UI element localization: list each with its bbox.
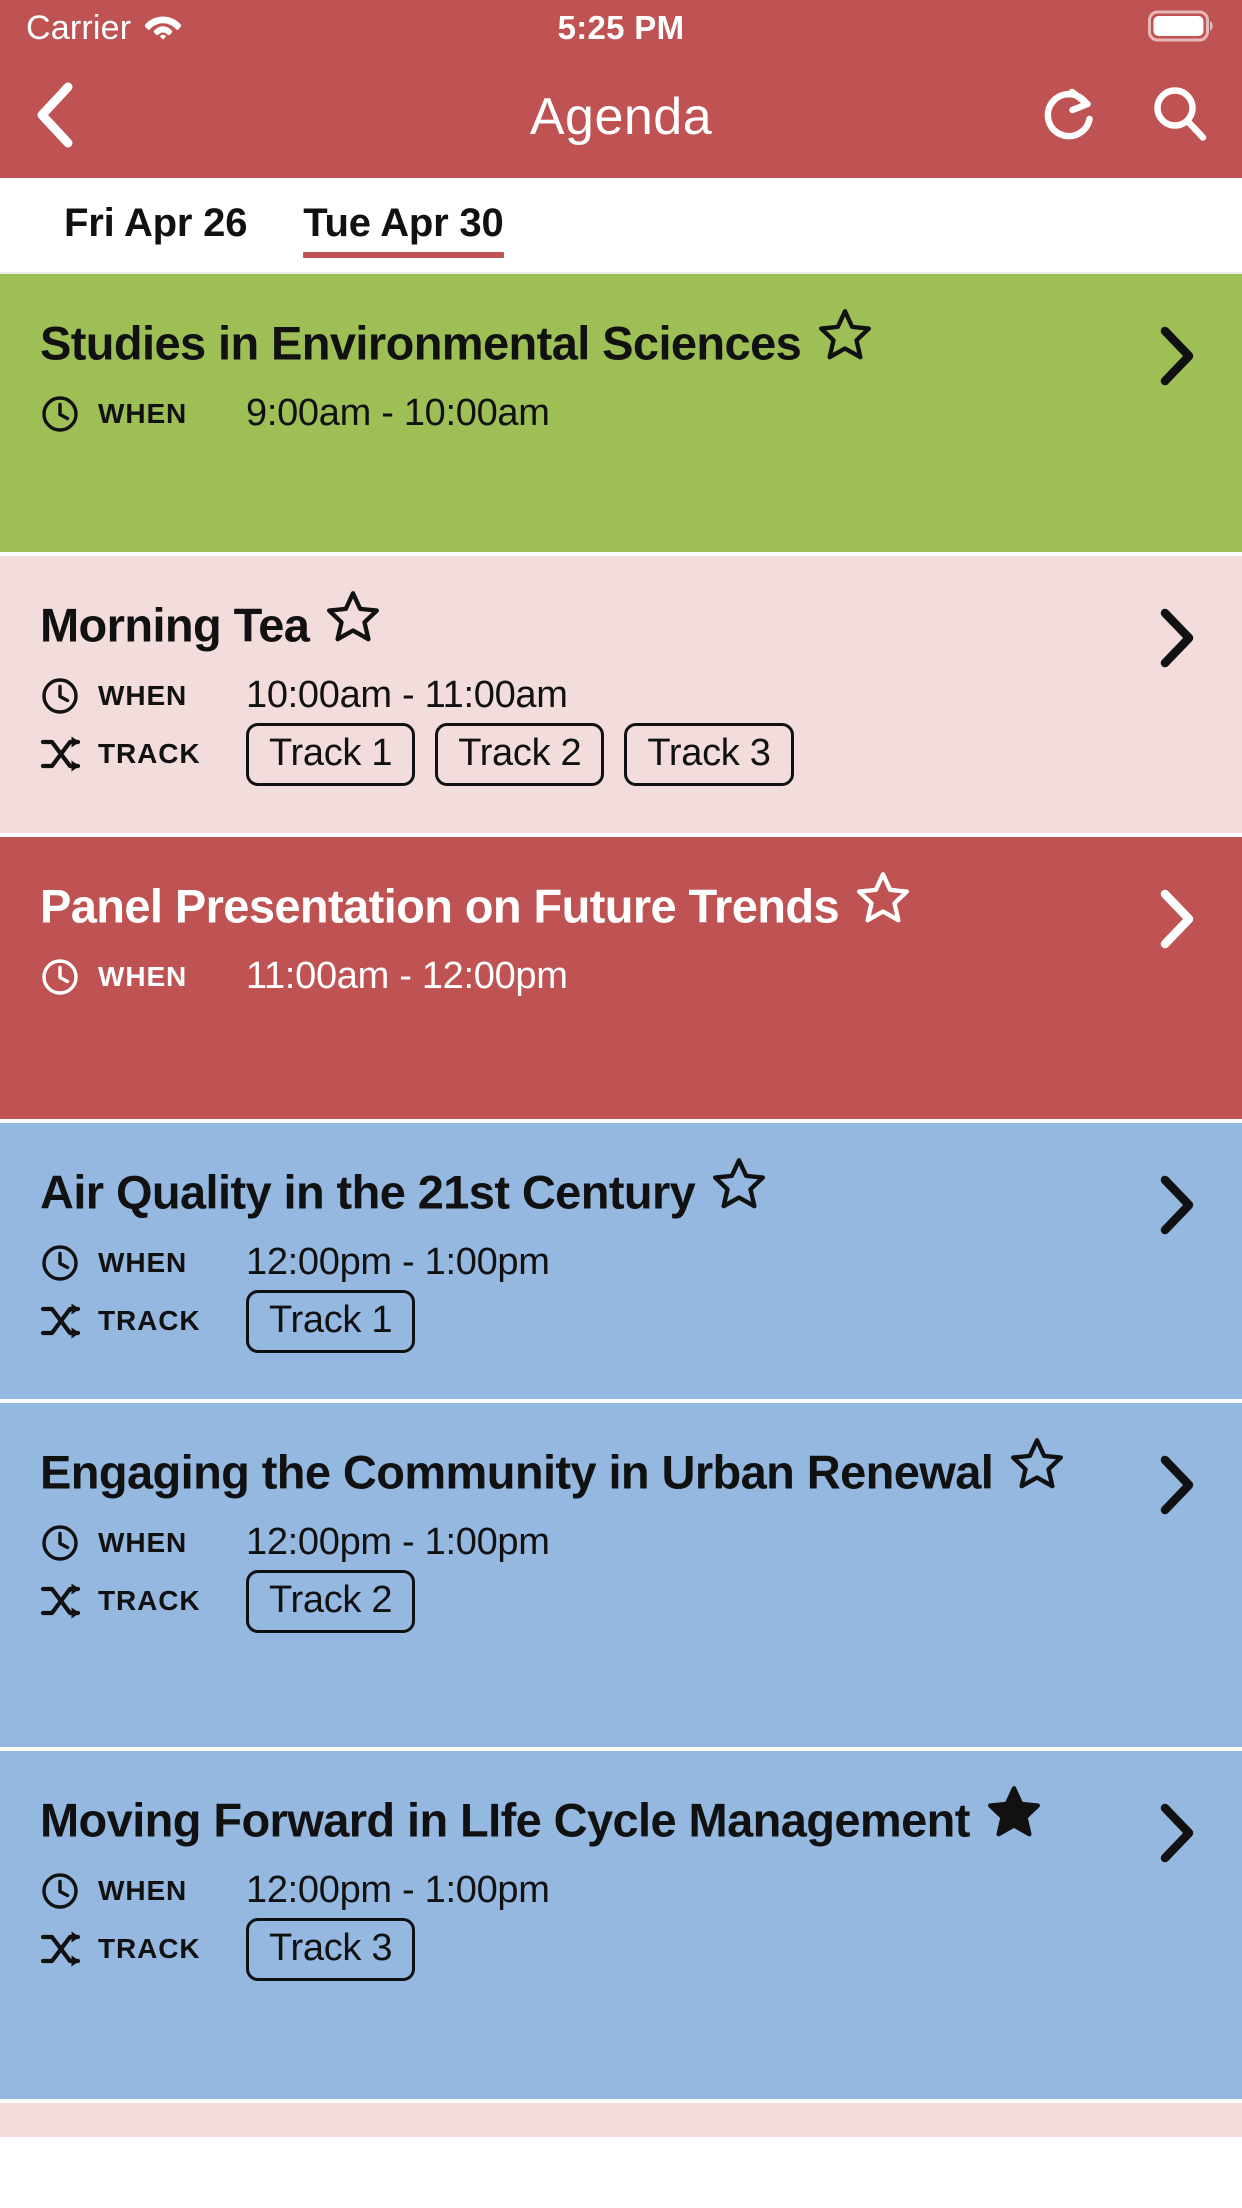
clock-icon — [40, 676, 86, 716]
refresh-icon — [1041, 85, 1099, 150]
session-time: 10:00am - 11:00am — [246, 674, 568, 717]
star-outline-icon[interactable] — [713, 1157, 765, 1214]
session-card[interactable] — [0, 2103, 1242, 2137]
status-bar-left: Carrier — [26, 9, 181, 48]
track-pill[interactable]: Track 3 — [246, 1918, 415, 1981]
session-when-row: WHEN10:00am - 11:00am — [40, 669, 1202, 723]
chevron-right-icon[interactable] — [1156, 1455, 1198, 1515]
tab-tue-apr-30[interactable]: Tue Apr 30 — [275, 178, 531, 272]
when-label: WHEN — [98, 1247, 246, 1279]
chevron-right-icon[interactable] — [1156, 1803, 1198, 1863]
session-title: Moving Forward in LIfe Cycle Management — [40, 1794, 970, 1847]
status-bar: Carrier 5:25 PM — [0, 0, 1242, 56]
shuffle-icon — [40, 1302, 86, 1340]
clock-icon — [40, 1523, 86, 1563]
nav-actions — [1038, 82, 1212, 152]
tab-label: Fri Apr 26 — [64, 201, 247, 246]
wifi-icon — [145, 12, 181, 45]
shuffle-icon — [40, 735, 86, 773]
when-label: WHEN — [98, 398, 246, 430]
shuffle-icon — [40, 1930, 86, 1968]
clock-icon — [40, 1871, 86, 1911]
star-outline-icon[interactable] — [1011, 1437, 1063, 1494]
chevron-right-icon[interactable] — [1156, 889, 1198, 949]
track-label: TRACK — [98, 1933, 246, 1965]
session-title: Panel Presentation on Future Trends — [40, 880, 839, 933]
chevron-right-icon[interactable] — [1156, 1175, 1198, 1235]
session-track-row: TRACKTrack 3 — [40, 1918, 1202, 1981]
session-when-row: WHEN12:00pm - 1:00pm — [40, 1516, 1202, 1570]
when-label: WHEN — [98, 961, 246, 993]
session-title-row: Studies in Environmental Sciences — [40, 308, 1202, 369]
star-filled-icon[interactable] — [988, 1785, 1040, 1842]
session-track-row: TRACKTrack 2 — [40, 1570, 1202, 1633]
track-pill[interactable]: Track 2 — [246, 1570, 415, 1633]
refresh-button[interactable] — [1038, 82, 1102, 152]
status-bar-time: 5:25 PM — [0, 9, 1242, 47]
star-outline-icon[interactable] — [327, 590, 379, 647]
session-time: 12:00pm - 1:00pm — [246, 1521, 550, 1564]
track-label: TRACK — [98, 738, 246, 770]
session-time: 12:00pm - 1:00pm — [246, 1869, 550, 1912]
session-card[interactable]: Air Quality in the 21st CenturyWHEN12:00… — [0, 1123, 1242, 1403]
session-title-row: Panel Presentation on Future Trends — [40, 871, 1202, 932]
track-pill-group: Track 1Track 2Track 3 — [246, 723, 794, 786]
clock-icon — [40, 1243, 86, 1283]
chevron-left-icon — [34, 82, 76, 153]
track-pill[interactable]: Track 2 — [435, 723, 604, 786]
session-time: 12:00pm - 1:00pm — [246, 1241, 550, 1284]
tab-active-indicator — [303, 252, 503, 258]
battery-full-icon — [1148, 10, 1216, 47]
tab-label: Tue Apr 30 — [303, 201, 503, 246]
session-title: Morning Tea — [40, 599, 309, 652]
session-time: 9:00am - 10:00am — [246, 392, 550, 435]
session-track-row: TRACKTrack 1 — [40, 1290, 1202, 1353]
date-tab-bar: Fri Apr 26 Tue Apr 30 — [0, 178, 1242, 274]
session-title: Air Quality in the 21st Century — [40, 1166, 695, 1219]
session-title: Engaging the Community in Urban Renewal — [40, 1446, 993, 1499]
session-title: Studies in Environmental Sciences — [40, 317, 801, 370]
chevron-right-icon[interactable] — [1156, 608, 1198, 668]
track-pill[interactable]: Track 1 — [246, 1290, 415, 1353]
star-outline-icon[interactable] — [857, 871, 909, 928]
clock-icon — [40, 957, 86, 997]
star-outline-icon[interactable] — [819, 308, 871, 365]
track-label: TRACK — [98, 1305, 246, 1337]
track-pill[interactable]: Track 3 — [624, 723, 793, 786]
session-meta: WHEN9:00am - 10:00am — [40, 387, 1202, 441]
shuffle-icon — [40, 1582, 86, 1620]
session-card[interactable]: Morning TeaWHEN10:00am - 11:00amTRACKTra… — [0, 556, 1242, 837]
session-when-row: WHEN12:00pm - 1:00pm — [40, 1864, 1202, 1918]
session-card[interactable]: Studies in Environmental SciencesWHEN9:0… — [0, 274, 1242, 556]
session-meta: WHEN10:00am - 11:00amTRACKTrack 1Track 2… — [40, 669, 1202, 786]
track-label: TRACK — [98, 1585, 246, 1617]
status-bar-right — [1148, 10, 1216, 47]
agenda-session-list[interactable]: Studies in Environmental SciencesWHEN9:0… — [0, 274, 1242, 2137]
track-pill-group: Track 2 — [246, 1570, 415, 1633]
when-label: WHEN — [98, 1875, 246, 1907]
back-button[interactable] — [34, 77, 104, 157]
when-label: WHEN — [98, 1527, 246, 1559]
nav-bar: Agenda — [0, 56, 1242, 178]
search-button[interactable] — [1148, 82, 1212, 152]
session-title-row: Engaging the Community in Urban Renewal — [40, 1437, 1202, 1498]
session-card[interactable]: Engaging the Community in Urban RenewalW… — [0, 1403, 1242, 1751]
track-pill-group: Track 3 — [246, 1918, 415, 1981]
session-title-row: Morning Tea — [40, 590, 1202, 651]
session-card[interactable]: Panel Presentation on Future TrendsWHEN1… — [0, 837, 1242, 1123]
session-meta: WHEN12:00pm - 1:00pmTRACKTrack 1 — [40, 1236, 1202, 1353]
tab-fri-apr-26[interactable]: Fri Apr 26 — [36, 178, 275, 272]
session-when-row: WHEN9:00am - 10:00am — [40, 387, 1202, 441]
clock-icon — [40, 394, 86, 434]
session-time: 11:00am - 12:00pm — [246, 955, 568, 998]
session-track-row: TRACKTrack 1Track 2Track 3 — [40, 723, 1202, 786]
track-pill-group: Track 1 — [246, 1290, 415, 1353]
session-meta: WHEN12:00pm - 1:00pmTRACKTrack 2 — [40, 1516, 1202, 1633]
session-title-row: Moving Forward in LIfe Cycle Management — [40, 1785, 1202, 1846]
session-when-row: WHEN11:00am - 12:00pm — [40, 950, 1202, 1004]
search-icon — [1150, 84, 1210, 151]
session-when-row: WHEN12:00pm - 1:00pm — [40, 1236, 1202, 1290]
track-pill[interactable]: Track 1 — [246, 723, 415, 786]
session-card[interactable]: Moving Forward in LIfe Cycle ManagementW… — [0, 1751, 1242, 2103]
when-label: WHEN — [98, 680, 246, 712]
chevron-right-icon[interactable] — [1156, 326, 1198, 386]
session-meta: WHEN12:00pm - 1:00pmTRACKTrack 3 — [40, 1864, 1202, 1981]
carrier-label: Carrier — [26, 9, 131, 48]
session-meta: WHEN11:00am - 12:00pm — [40, 950, 1202, 1004]
session-title-row: Air Quality in the 21st Century — [40, 1157, 1202, 1218]
